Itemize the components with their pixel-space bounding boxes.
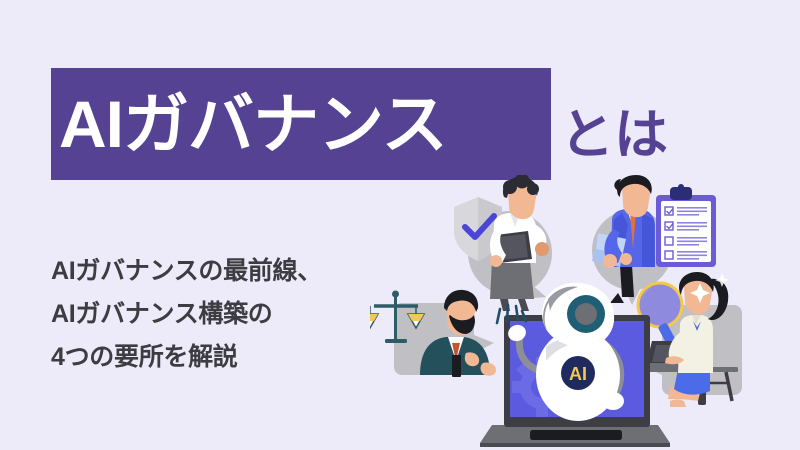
subtitle-line-3: 4つの要所を解説 (51, 336, 381, 379)
illustration-group: AI (370, 175, 800, 450)
checklist-clipboard-icon (656, 184, 716, 267)
subtitle-line-2: AIガバナンス構築の (51, 293, 381, 336)
bearded-man-scene (370, 290, 496, 377)
woman-with-tablet-avatar (490, 175, 549, 311)
page-title: AIガバナンス (51, 91, 447, 157)
poster-canvas: AIガバナンス とは AIガバナンスの最前線、 AIガバナンス構築の 4つの要所… (0, 0, 800, 450)
title-suffix: とは (560, 108, 668, 162)
robot-ai-badge-label: AI (569, 364, 587, 384)
subtitle-line-1: AIガバナンスの最前線、 (51, 250, 381, 293)
shield-woman-scene (454, 175, 552, 311)
title-highlight-box: AIガバナンス (51, 68, 551, 180)
subtitle-block: AIガバナンスの最前線、 AIガバナンス構築の 4つの要所を解説 (51, 250, 381, 379)
title-block: AIガバナンス とは (0, 60, 800, 185)
desk-woman-scene (638, 272, 742, 407)
